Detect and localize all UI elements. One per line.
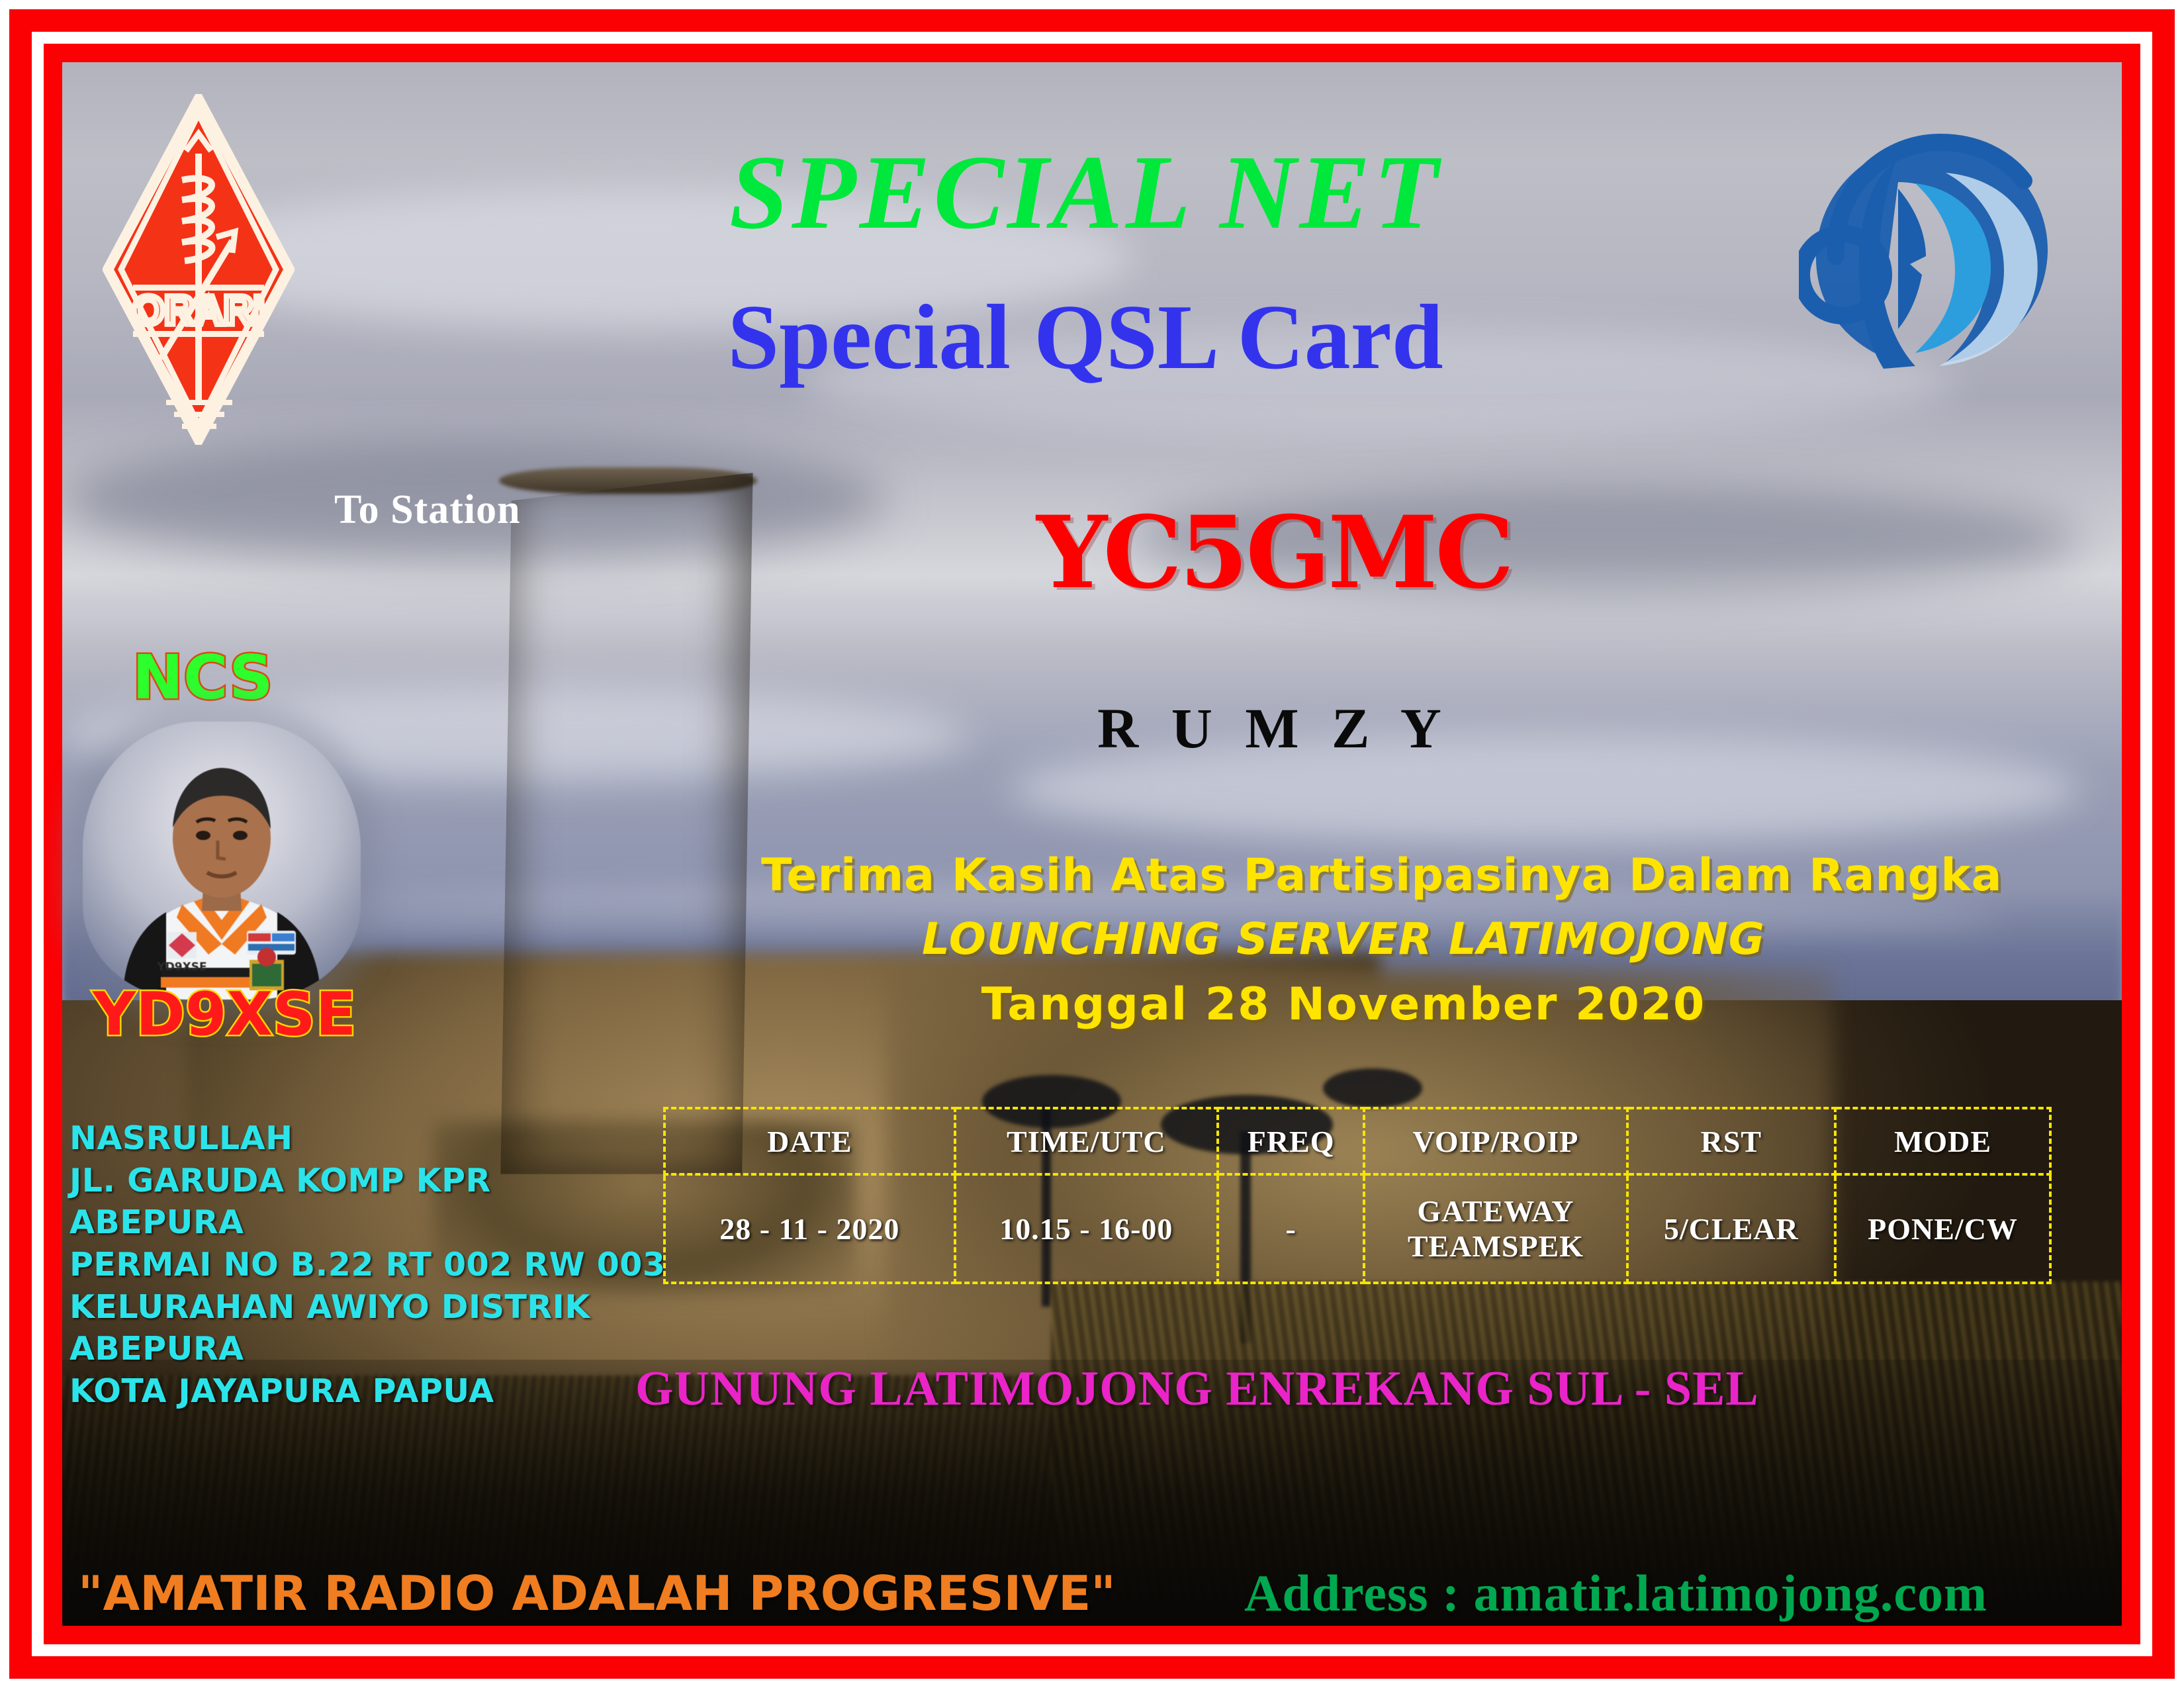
table-header-row: DATE TIME/UTC FREQ VOIP/ROIP RST MODE <box>664 1108 2050 1174</box>
stone-pillar-monument <box>492 473 764 1174</box>
operator-name: R U M Z Y <box>860 695 1688 761</box>
address-line: NASRULLAH <box>69 1117 666 1160</box>
address-line: JL. GARUDA KOMP KPR <box>69 1160 666 1202</box>
address-line: ABEPURA <box>69 1201 666 1244</box>
station-callsign: YC5GMC <box>860 503 1688 602</box>
ncs-callsign: YD9XSE <box>93 980 356 1049</box>
orari-logo: ORARI <box>103 94 295 445</box>
column-header-freq: FREQ <box>1218 1108 1364 1174</box>
qsl-card: ORARI SPECIAL NET Special QSL Card To St… <box>0 0 2184 1688</box>
thanks-line: Terima Kasih Atas Partisipasinya Dalam R… <box>761 849 1926 902</box>
tree-silhouette <box>1323 1068 1422 1108</box>
cell-freq: - <box>1218 1174 1364 1283</box>
cell-voip-line2: TEAMSPEK <box>1365 1229 1625 1264</box>
column-header-rst: RST <box>1627 1108 1835 1174</box>
ncs-label: NCS <box>132 642 273 713</box>
event-date-line: Tanggal 28 November 2020 <box>761 978 1926 1031</box>
table-row: 28 - 11 - 2020 10.15 - 16-00 - GATEWAY T… <box>664 1174 2050 1283</box>
headset-profile-logo <box>1799 109 2057 374</box>
address-line: ABEPURA <box>69 1328 666 1370</box>
station-address-block: NASRULLAH JL. GARUDA KOMP KPR ABEPURA PE… <box>69 1117 666 1413</box>
address-line: KELURAHAN AWIYO DISTRIK <box>69 1286 666 1329</box>
cell-date: 28 - 11 - 2020 <box>664 1174 955 1283</box>
page-subtitle: Special QSL Card <box>457 291 1714 384</box>
cell-time: 10.15 - 16-00 <box>955 1174 1218 1283</box>
orari-wordmark: ORARI <box>132 288 265 334</box>
address-line: PERMAI NO B.22 RT 002 RW 003 <box>69 1244 666 1286</box>
column-header-voip: VOIP/ROIP <box>1364 1108 1627 1174</box>
cell-voip-line1: GATEWAY <box>1365 1194 1625 1229</box>
address-line: KOTA JAYAPURA PAPUA <box>69 1370 666 1413</box>
operator-photo: YD9XSE <box>83 722 361 1000</box>
cell-mode: PONE/CW <box>1835 1174 2050 1283</box>
cell-rst: 5/CLEAR <box>1627 1174 1835 1283</box>
event-line: LOUNCHING SERVER LATIMOJONG <box>761 914 1926 964</box>
to-station-label: To Station <box>334 487 521 534</box>
uniform-callsign-text: YD9XSE <box>156 961 206 974</box>
column-header-time: TIME/UTC <box>955 1108 1218 1174</box>
column-header-mode: MODE <box>1835 1108 2050 1174</box>
web-address-text: Address : amatir.latimojong.com <box>1244 1564 1987 1623</box>
motto-text: "AMATIR RADIO ADALAH PROGRESIVE" <box>78 1566 1116 1621</box>
cell-voip: GATEWAY TEAMSPEK <box>1364 1174 1627 1283</box>
qth-location-line: GUNUNG LATIMOJONG ENREKANG SUL - SEL <box>635 1361 1759 1417</box>
qso-details-table: DATE TIME/UTC FREQ VOIP/ROIP RST MODE 28… <box>663 1107 2052 1284</box>
column-header-date: DATE <box>664 1108 955 1174</box>
page-title: SPECIAL NET <box>457 139 1714 245</box>
